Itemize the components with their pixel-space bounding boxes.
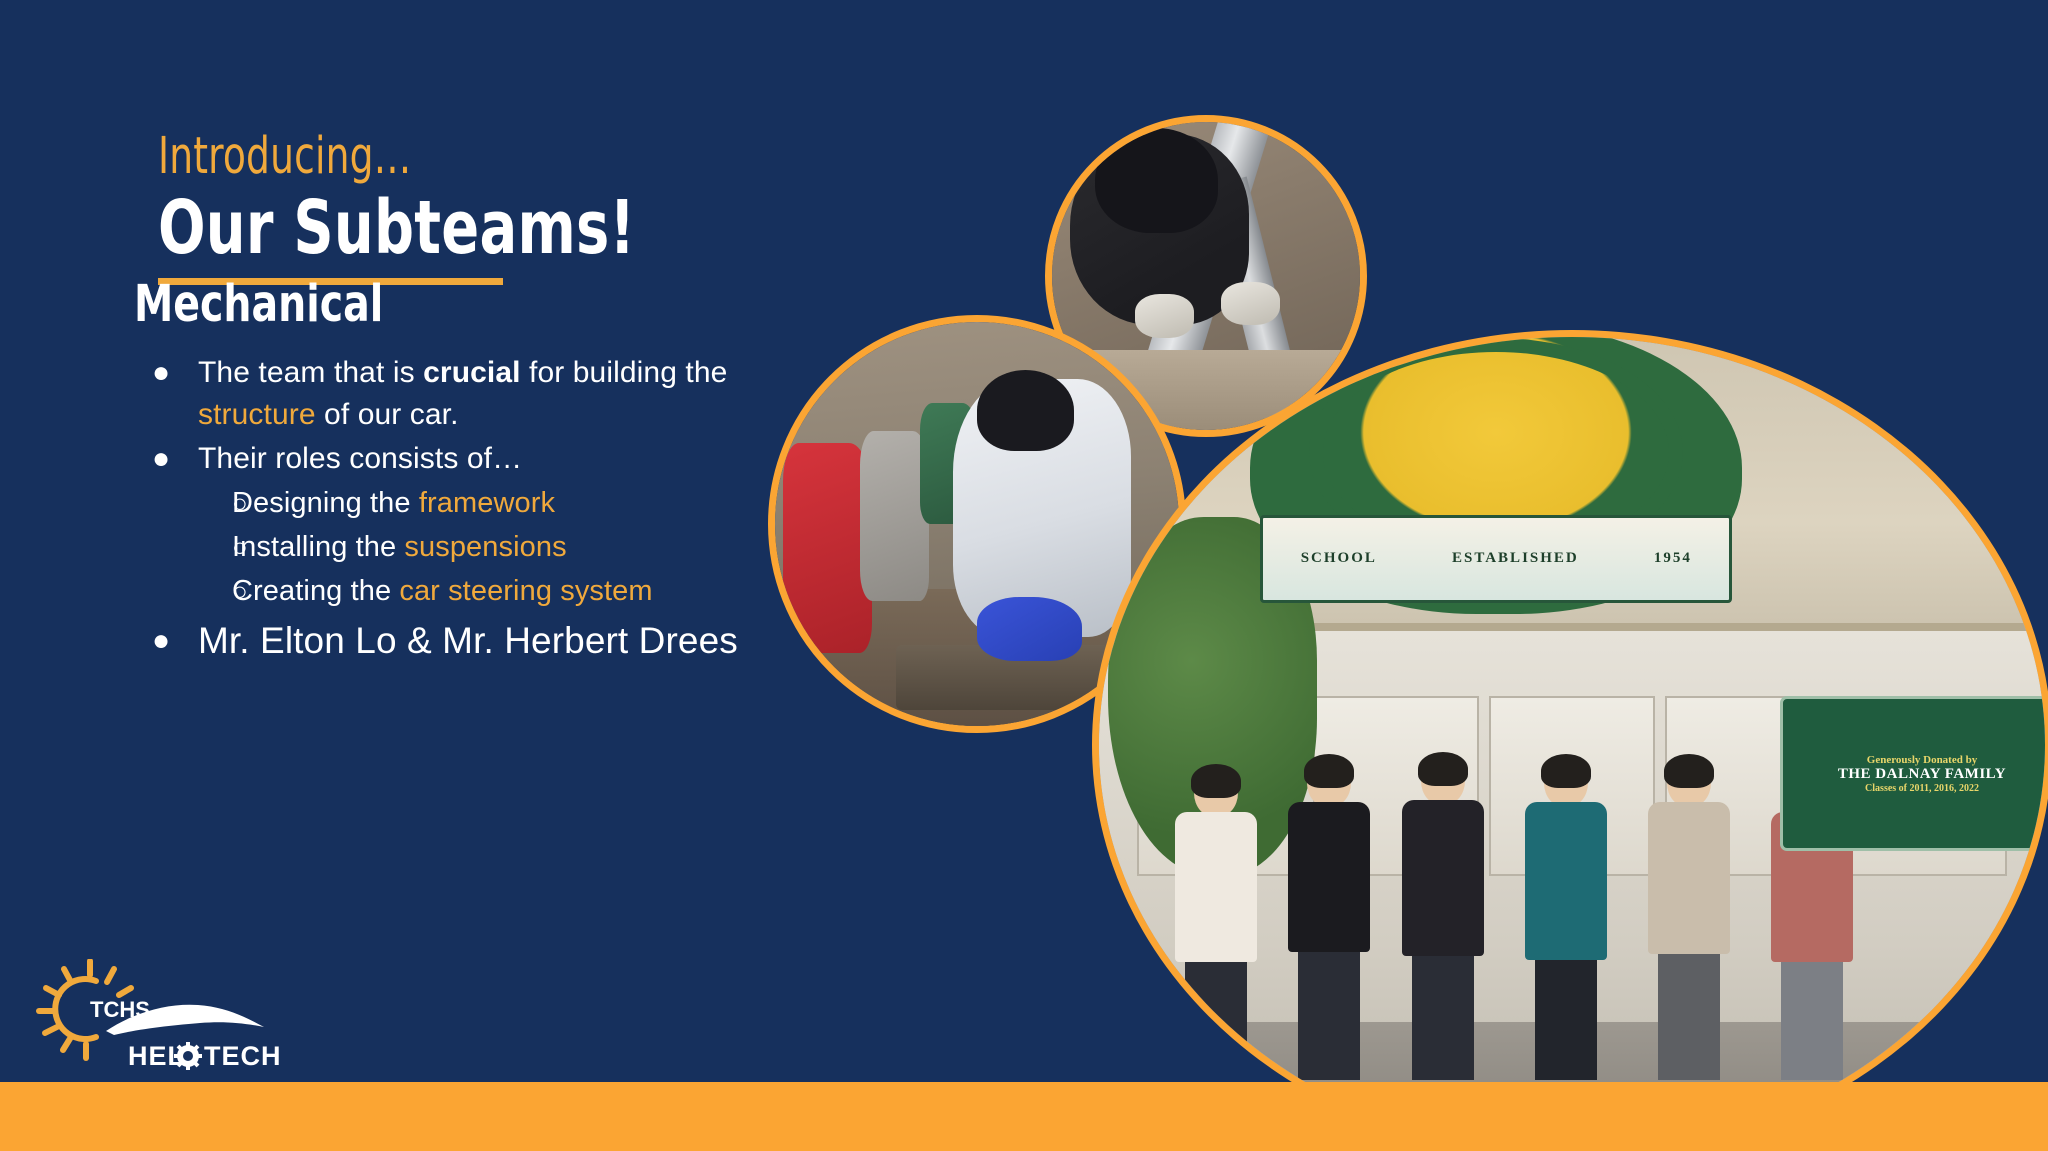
crest-banner: SCHOOL ESTABLISHED 1954: [1260, 515, 1732, 603]
slide-canvas: SCHOOL ESTABLISHED 1954 Generously Donat…: [0, 0, 2048, 1151]
bullet-list: ●The team that is crucial for building t…: [134, 352, 814, 670]
grey-garment: [860, 431, 929, 601]
student-4: [1525, 758, 1607, 1080]
page-title: Our Subteams!: [158, 188, 635, 268]
student-1: [1175, 768, 1257, 1080]
title-block: Introducing… Our Subteams!: [158, 128, 726, 285]
student-hair: [977, 370, 1074, 451]
logo-artwork: TCHS HELI TECH: [28, 959, 286, 1079]
logo-wordmark-right: TECH: [204, 1041, 282, 1071]
bullet-text: Designing the framework: [232, 482, 555, 524]
student-5-torso: [1648, 802, 1730, 954]
student-2-torso: [1288, 802, 1370, 952]
bullet-item-5: ○Creating the car steering system: [134, 570, 814, 612]
plaque-line-1: Generously Donated by: [1867, 754, 1977, 766]
blue-glove: [977, 597, 1082, 662]
student-1-hair: [1191, 764, 1241, 798]
student-5-hair: [1664, 754, 1714, 788]
student-5-legs: [1658, 954, 1720, 1080]
student-1-torso: [1175, 812, 1257, 962]
bullet-item-4: ○Installing the suspensions: [134, 526, 814, 568]
plaque-line-3: Classes of 2011, 2016, 2022: [1865, 783, 1979, 794]
bullet-item-6: ●Mr. Elton Lo & Mr. Herbert Drees: [134, 614, 814, 668]
school-crest: SCHOOL ESTABLISHED 1954: [1250, 330, 1742, 614]
bullet-text: Installing the suspensions: [232, 526, 567, 568]
student-6-legs: [1781, 962, 1843, 1080]
section-heading: Mechanical: [134, 276, 383, 334]
student-4-hair: [1541, 754, 1591, 788]
gear-icon: [174, 1042, 202, 1070]
bullet-marker: ○: [134, 482, 232, 524]
bullet-text: Creating the car steering system: [232, 570, 653, 612]
crest-banner-left: SCHOOL: [1301, 550, 1377, 567]
student-2: [1288, 758, 1370, 1080]
student-3-hair: [1418, 752, 1468, 786]
student-3: [1402, 756, 1484, 1080]
bullet-item-1: ●The team that is crucial for building t…: [134, 352, 814, 436]
bullet-item-3: ○Designing the framework: [134, 482, 814, 524]
student-2-hair: [1304, 754, 1354, 788]
heliotech-logo: TCHS HELI TECH: [28, 959, 286, 1079]
plaque-line-2: THE DALNAY FAMILY: [1838, 766, 2006, 783]
student-2-legs: [1298, 952, 1360, 1080]
bullet-marker: ○: [134, 526, 232, 568]
crest-banner-center: ESTABLISHED: [1452, 550, 1579, 567]
student-5: [1648, 758, 1730, 1080]
bullet-text: The team that is crucial for building th…: [198, 352, 814, 436]
student-3-torso: [1402, 800, 1484, 956]
bullet-marker: ●: [134, 438, 198, 480]
bottom-accent-band: [0, 1082, 2048, 1151]
welder-hair: [1095, 128, 1218, 233]
bullet-item-2: ●Their roles consists of…: [134, 438, 814, 480]
photo-group: SCHOOL ESTABLISHED 1954 Generously Donat…: [1092, 330, 2048, 1151]
bullet-marker: ○: [134, 570, 232, 612]
bullet-marker: ●: [134, 352, 198, 394]
bullet-marker: ●: [134, 614, 198, 668]
crest-banner-right: 1954: [1654, 550, 1692, 567]
bullet-text: Their roles consists of…: [198, 438, 522, 480]
student-3-legs: [1412, 956, 1474, 1080]
eyebrow-text: Introducing…: [158, 128, 624, 186]
bullet-text: Mr. Elton Lo & Mr. Herbert Drees: [198, 614, 738, 668]
student-4-torso: [1525, 802, 1607, 960]
student-4-legs: [1535, 960, 1597, 1080]
student-1-legs: [1185, 962, 1247, 1080]
welding-glove-right: [1221, 282, 1280, 325]
donation-plaque: Generously Donated by THE DALNAY FAMILY …: [1780, 696, 2048, 851]
